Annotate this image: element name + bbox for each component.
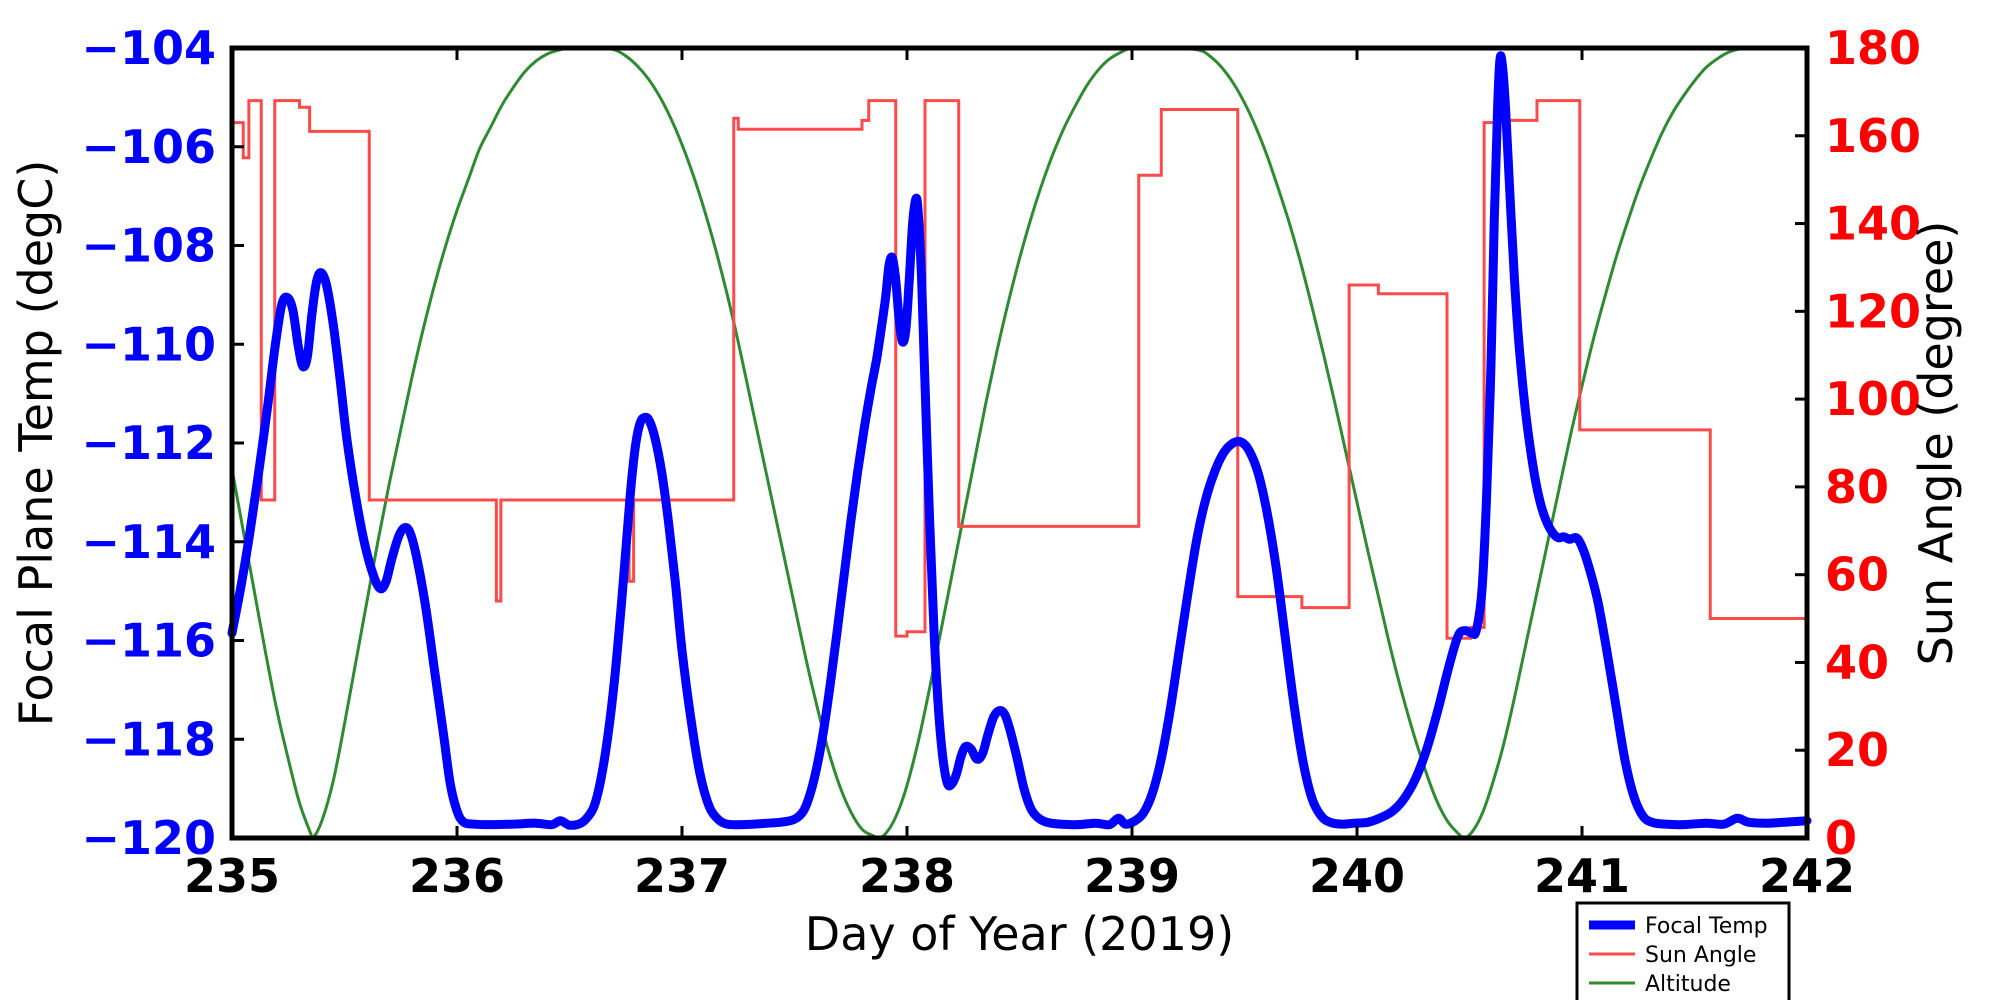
y-axis-label-left: Focal Plane Temp (degC) — [9, 160, 63, 727]
tick-label: 120 — [1825, 284, 1921, 338]
chart-background — [0, 0, 2000, 1000]
tick-label: −120 — [81, 811, 216, 865]
focal-plane-temp-chart: 235236237238239240241242−120−118−116−114… — [0, 0, 2000, 1000]
legend-label-altitude[interactable]: Altitude — [1645, 972, 1731, 997]
tick-label: 140 — [1825, 197, 1921, 251]
tick-label: 239 — [1084, 849, 1180, 903]
y-axis-label-right: Sun Angle (degree) — [1909, 221, 1963, 666]
tick-label: 100 — [1825, 372, 1921, 426]
tick-label: −112 — [81, 416, 216, 470]
tick-label: −110 — [81, 317, 216, 371]
chart-legend[interactable]: Focal TempSun AngleAltitude — [1577, 903, 1789, 1000]
tick-label: 241 — [1534, 849, 1630, 903]
tick-label: 238 — [859, 849, 955, 903]
tick-label: 240 — [1309, 849, 1405, 903]
chart-page: 235236237238239240241242−120−118−116−114… — [0, 0, 2000, 1000]
legend-label-sun-angle[interactable]: Sun Angle — [1645, 943, 1756, 968]
tick-label: −118 — [81, 712, 216, 766]
x-axis-label: Day of Year (2019) — [805, 907, 1234, 961]
tick-label: −116 — [81, 614, 216, 668]
tick-label: 80 — [1825, 460, 1889, 514]
tick-label: 0 — [1825, 811, 1857, 865]
tick-label: 160 — [1825, 109, 1921, 163]
tick-label: 20 — [1825, 723, 1889, 777]
tick-label: 60 — [1825, 548, 1889, 602]
tick-label: 236 — [409, 849, 505, 903]
tick-label: −106 — [81, 120, 216, 174]
tick-label: 180 — [1825, 21, 1921, 75]
legend-label-focal-temp[interactable]: Focal Temp — [1645, 914, 1768, 939]
tick-label: −104 — [81, 21, 216, 75]
tick-label: 40 — [1825, 635, 1889, 689]
tick-label: 237 — [634, 849, 730, 903]
tick-label: −114 — [81, 515, 216, 569]
tick-label: −108 — [81, 219, 216, 273]
